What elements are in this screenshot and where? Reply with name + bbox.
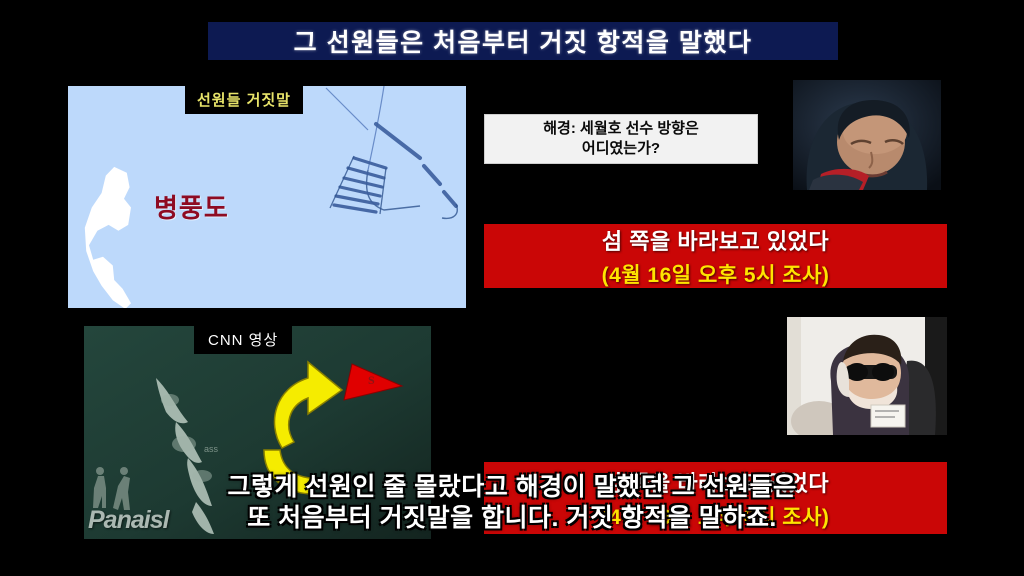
svg-text:ass: ass [204,444,219,454]
video-frame: 그 선원들은 처음부터 거짓 항적을 말했다 [0,0,1024,576]
map-route-lines [68,86,466,308]
portrait-bottom-caption: 2항사 김영호 [787,437,1024,458]
portrait-photo-top [793,80,941,190]
subtitle-line-1: 그렇게 선원인 줄 몰랐다고 해경이 말했던 그 선원들은 [0,472,1024,503]
portrait-top-caption: 조타수 조준기 [793,194,1024,215]
portrait-photo-bottom [787,317,947,435]
island-label: 병풍도 [154,188,229,225]
map-panel: 병풍도 선원들 거짓말 [68,86,466,308]
subtitle-overlay: 그렇게 선원인 줄 몰랐다고 해경이 말했던 그 선원들은 또 처음부터 거짓말… [0,472,1024,535]
headline-text: 그 선원들은 처음부터 거짓 항적을 말했다 [294,23,753,59]
cnn-panel-tag-text: CNN 영상 [208,332,278,349]
subtitle-line-2: 또 처음부터 거짓말을 합니다. 거짓 항적을 말하죠. [0,503,1024,534]
answer-top-line-1: 섬 쪽을 바라보고 있었다 [602,224,829,256]
cnn-panel-tag: CNN 영상 [194,326,292,354]
portrait-bottom-image [787,317,947,435]
marker-label: S [368,373,375,387]
map-panel-tag: 선원들 거짓말 [185,86,303,114]
answer-top-line-2: (4월 16일 오후 5시 조사) [602,259,830,289]
question-line-1: 해경: 세월호 선수 방향은 [543,119,699,139]
headline-banner: 그 선원들은 처음부터 거짓 항적을 말했다 [208,22,838,60]
question-line-2: 어디였는가? [582,139,660,159]
portrait-top-image [793,80,941,190]
answer-box-top: 섬 쪽을 바라보고 있었다 (4월 16일 오후 5시 조사) [484,224,947,288]
map-panel-tag-text: 선원들 거짓말 [197,92,291,109]
question-box: 해경: 세월호 선수 방향은 어디였는가? [484,114,758,164]
